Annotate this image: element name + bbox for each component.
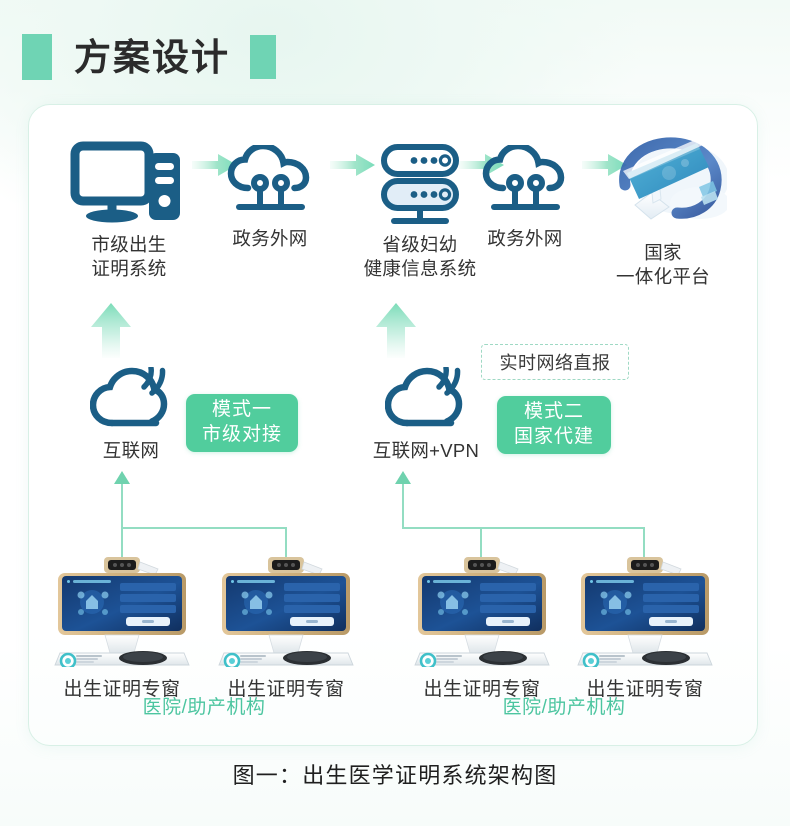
node-internet-vpn-cloud: 互联网+VPN <box>341 367 511 463</box>
kiosk-1: 出生证明专窗 <box>46 557 198 701</box>
node-city-birth-certificate-system: 市级出生 证明系统 <box>57 141 201 282</box>
org-label-right: 医院/助产机构 <box>479 692 649 719</box>
org-label-left: 医院/助产机构 <box>119 692 289 719</box>
page-header: 方案设计 <box>0 26 790 88</box>
desktop-computer-icon <box>70 141 188 227</box>
kiosk-4: 出生证明专窗 <box>569 557 721 701</box>
header-accent-block-right <box>250 35 276 79</box>
kiosk-2: 出生证明专窗 <box>210 557 362 701</box>
realtime-report-note: 实时网络直报 <box>481 344 629 380</box>
internet-cloud-wifi-icon <box>90 367 172 437</box>
self-service-kiosk-icon <box>212 557 360 667</box>
server-rack-icon <box>378 143 462 227</box>
mode-badge-2[interactable]: 模式二 国家代建 <box>497 396 611 454</box>
node-internet-cloud: 互联网 <box>71 367 191 463</box>
arrow-up-icon-left <box>89 301 133 359</box>
mode-badge-1[interactable]: 模式一 市级对接 <box>186 394 298 452</box>
header-accent-block-left <box>22 34 52 80</box>
internet-vpn-cloud-wifi-icon <box>385 367 467 437</box>
node-label: 国家 一体化平台 <box>616 241 710 290</box>
node-label: 政务外网 <box>232 227 307 251</box>
government-network-cloud-icon <box>482 145 568 223</box>
architecture-diagram-card: 市级出生 证明系统 政务外网 <box>28 104 758 746</box>
national-platform-monitor-icon <box>599 133 727 231</box>
node-label: 互联网+VPN <box>373 439 479 463</box>
arrow-up-icon-right <box>374 301 418 359</box>
kiosk-3: 出生证明专窗 <box>406 557 558 701</box>
self-service-kiosk-icon <box>408 557 556 667</box>
self-service-kiosk-icon <box>48 557 196 667</box>
page-title: 方案设计 <box>74 39 230 76</box>
node-label: 互联网 <box>103 439 159 463</box>
government-network-cloud-icon <box>227 145 313 223</box>
figure-caption: 图一：出生医学证明系统架构图 <box>0 758 790 790</box>
node-national-platform: 国家 一体化平台 <box>583 133 743 290</box>
self-service-kiosk-icon <box>571 557 719 667</box>
node-government-extranet-2: 政务外网 <box>459 145 591 251</box>
node-label: 政务外网 <box>487 227 562 251</box>
node-label: 市级出生 证明系统 <box>91 233 166 282</box>
node-government-extranet-1: 政务外网 <box>204 145 336 251</box>
